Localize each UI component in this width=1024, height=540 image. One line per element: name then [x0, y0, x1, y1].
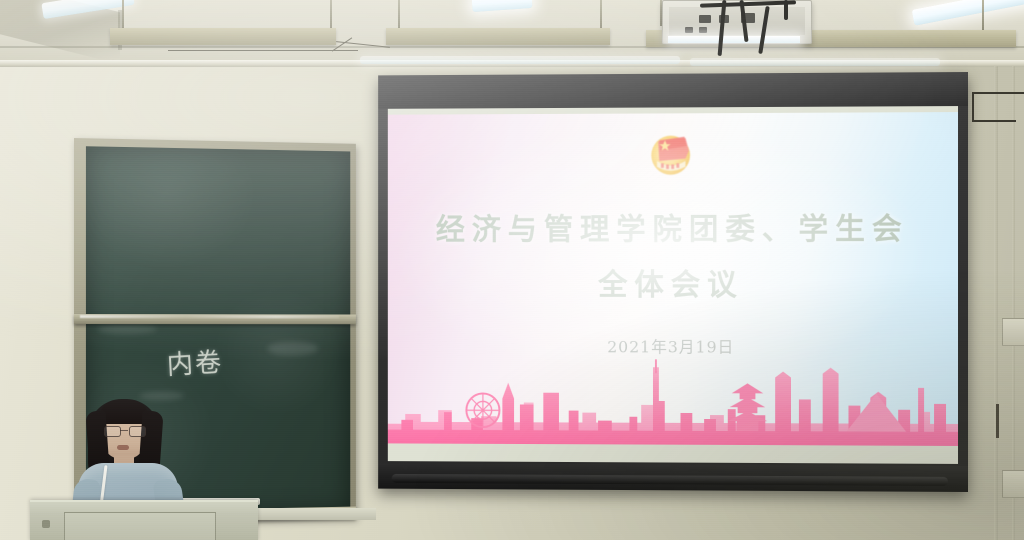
classroom-photo-scene: 内卷 — [0, 0, 1024, 540]
room-lighting-overlay — [0, 0, 1024, 540]
